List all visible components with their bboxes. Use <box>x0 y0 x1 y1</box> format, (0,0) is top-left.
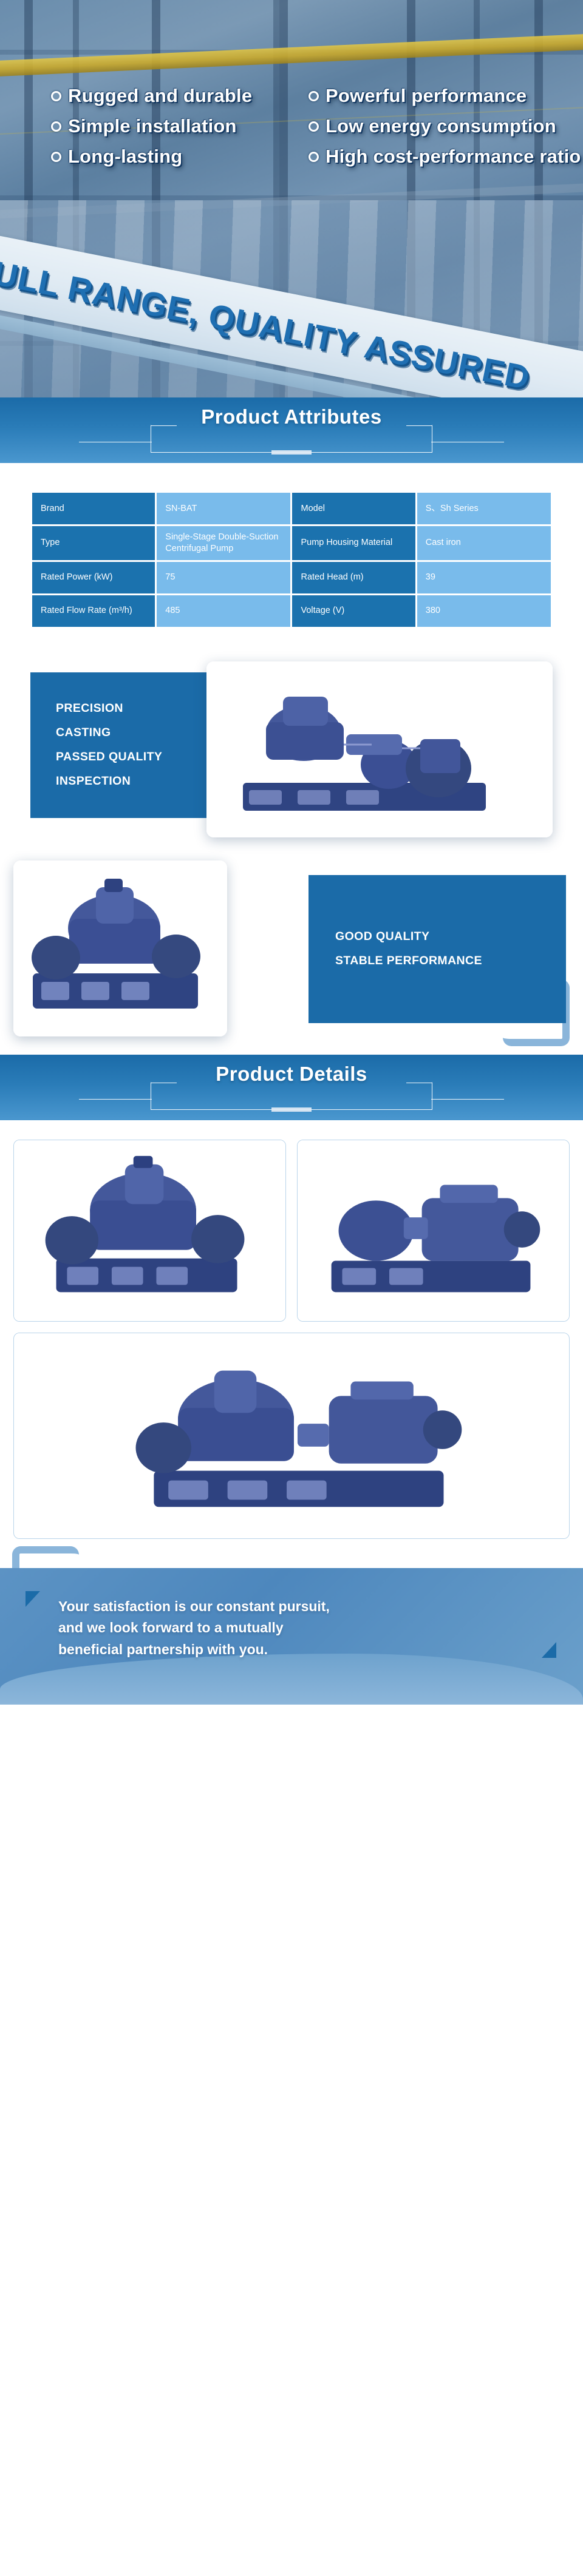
specification-table: Brand SN-BAT Model S、Sh Series Type Sing… <box>30 491 553 629</box>
header-tick-mark <box>271 1107 312 1112</box>
feature-line: PRECISION CASTING <box>56 697 181 745</box>
spec-label: Model <box>292 493 415 524</box>
feature-photo <box>206 661 553 837</box>
section-title: Product Attributes <box>79 405 504 428</box>
header-rule-left <box>79 442 152 442</box>
circle-bullet-icon <box>51 152 61 162</box>
feature-line: GOOD QUALITY <box>335 925 566 949</box>
header-tick-mark <box>271 450 312 455</box>
circle-bullet-icon <box>309 152 319 162</box>
section-header-inner: Product Attributes <box>79 404 504 456</box>
gallery-row <box>13 1333 570 1539</box>
spec-label: Rated Head (m) <box>292 562 415 593</box>
feature-text-panel: GOOD QUALITY STABLE PERFORMANCE <box>309 875 566 1023</box>
pump-illustration-icon <box>13 860 227 1036</box>
hero-feature-item: Long-lasting <box>0 146 291 167</box>
circle-bullet-icon <box>51 91 61 101</box>
section-title: Product Details <box>79 1063 504 1086</box>
triangle-accent-right-icon <box>542 1642 556 1658</box>
product-page: Rugged and durable Powerful performance … <box>0 0 583 1705</box>
spec-value: 380 <box>417 595 551 627</box>
circle-bullet-icon <box>51 121 61 132</box>
spec-value: S、Sh Series <box>417 493 551 524</box>
footer-line: Your satisfaction is our constant pursui… <box>58 1596 510 1618</box>
footer-message: Your satisfaction is our constant pursui… <box>58 1596 510 1661</box>
spec-label: Voltage (V) <box>292 595 415 627</box>
pump-motor-photo-icon <box>298 1140 569 1321</box>
hero-feature-label: Low energy consumption <box>326 115 556 137</box>
gallery-image-3[interactable] <box>13 1333 570 1539</box>
factory-foreground-image <box>0 200 583 397</box>
hero-feature-item: High cost-performance ratio <box>291 146 583 167</box>
product-details-header: Product Details <box>0 1055 583 1120</box>
pump-unit-photo-icon <box>14 1333 569 1538</box>
spec-value: SN-BAT <box>157 493 290 524</box>
header-rule-right <box>431 442 504 442</box>
gallery-image-2[interactable] <box>297 1140 570 1322</box>
hero-feature-item: Low energy consumption <box>291 115 583 137</box>
hero-feature-label: Long-lasting <box>68 146 182 167</box>
spec-label: Brand <box>32 493 155 524</box>
spec-label: Rated Flow Rate (m³/h) <box>32 595 155 627</box>
product-details-gallery <box>0 1120 583 1568</box>
product-attributes-header: Product Attributes <box>0 397 583 463</box>
feature-text-panel: PRECISION CASTING PASSED QUALITY INSPECT… <box>30 672 206 818</box>
hero-feature-item: Simple installation <box>0 115 291 137</box>
specification-table-wrapper: Brand SN-BAT Model S、Sh Series Type Sing… <box>0 463 583 654</box>
table-row: Brand SN-BAT Model S、Sh Series <box>32 493 551 524</box>
feature-photo <box>13 860 227 1036</box>
circle-bullet-icon <box>309 91 319 101</box>
hero-feature-item: Rugged and durable <box>0 85 291 107</box>
footer-banner: Your satisfaction is our constant pursui… <box>0 1568 583 1705</box>
table-row: Rated Flow Rate (m³/h) 485 Voltage (V) 3… <box>32 595 551 627</box>
hero-banner: Rugged and durable Powerful performance … <box>0 0 583 397</box>
header-frame <box>151 425 432 453</box>
header-frame <box>151 1082 432 1110</box>
feature-line: PASSED QUALITY <box>56 745 181 769</box>
footer-line: beneficial partnership with you. <box>58 1639 510 1661</box>
table-row: Type Single-Stage Double-Suction Centrif… <box>32 526 551 560</box>
hero-feature-label: High cost-performance ratio <box>326 146 581 167</box>
spec-label: Rated Power (kW) <box>32 562 155 593</box>
spec-value: 75 <box>157 562 290 593</box>
hero-feature-label: Simple installation <box>68 115 237 137</box>
triangle-accent-left-icon <box>26 1591 40 1607</box>
header-rule-right <box>431 1099 504 1100</box>
spec-label: Type <box>32 526 155 560</box>
feature-block-good-quality: GOOD QUALITY STABLE PERFORMANCE <box>0 854 583 1055</box>
spec-value: Cast iron <box>417 526 551 560</box>
footer-line: and we look forward to a mutually <box>58 1617 510 1639</box>
footer-wave-decoration <box>0 1654 583 1705</box>
hero-feature-list: Rugged and durable Powerful performance … <box>0 85 583 167</box>
hero-feature-label: Powerful performance <box>326 85 527 107</box>
spec-value: 39 <box>417 562 551 593</box>
spec-value: 485 <box>157 595 290 627</box>
gallery-image-1[interactable] <box>13 1140 286 1322</box>
gallery-row <box>13 1140 570 1322</box>
pump-illustration-icon <box>206 661 553 837</box>
feature-line: INSPECTION <box>56 769 181 794</box>
hero-feature-item: Powerful performance <box>291 85 583 107</box>
section-header-inner: Product Details <box>79 1061 504 1114</box>
feature-line: STABLE PERFORMANCE <box>335 949 566 973</box>
table-row: Rated Power (kW) 75 Rated Head (m) 39 <box>32 562 551 593</box>
hero-feature-label: Rugged and durable <box>68 85 252 107</box>
spec-label: Pump Housing Material <box>292 526 415 560</box>
feature-block-precision-casting: PRECISION CASTING PASSED QUALITY INSPECT… <box>0 654 583 854</box>
pump-photo-icon <box>14 1140 285 1321</box>
spec-value: Single-Stage Double-Suction Centrifugal … <box>157 526 290 560</box>
circle-bullet-icon <box>309 121 319 132</box>
header-rule-left <box>79 1099 152 1100</box>
